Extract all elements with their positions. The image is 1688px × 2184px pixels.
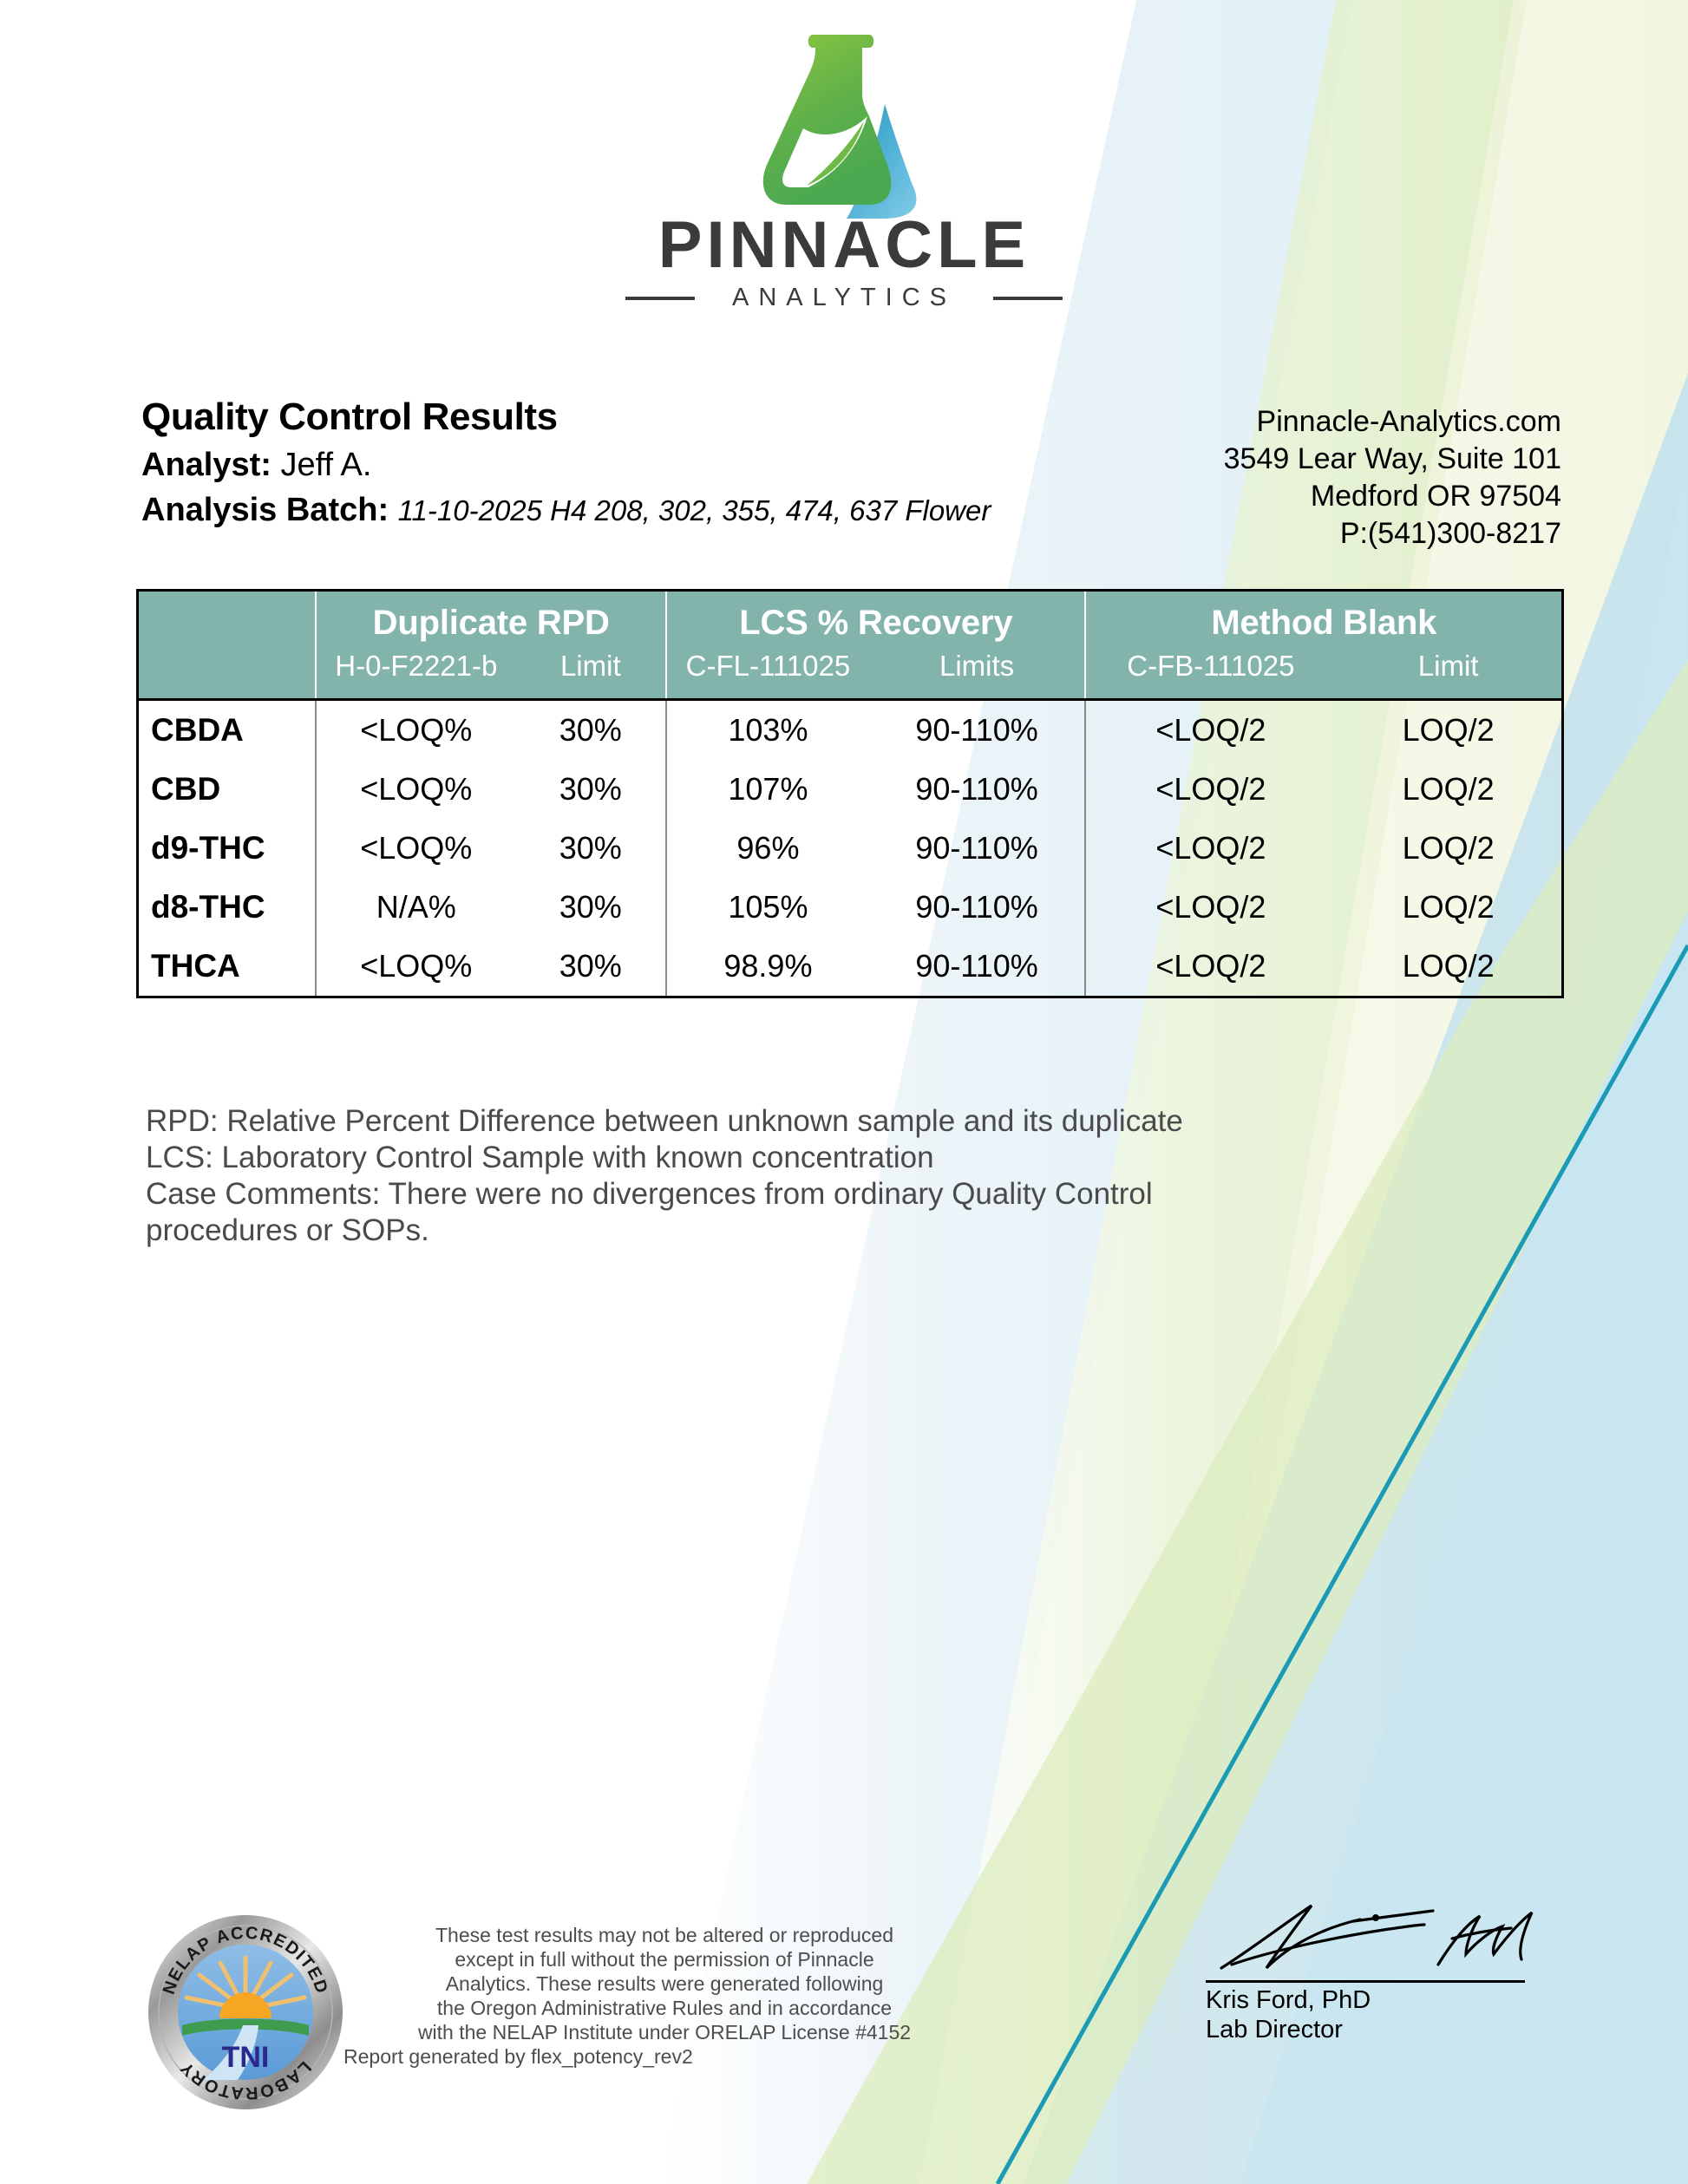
analyte-name: THCA [139, 937, 316, 996]
rpd-value: <LOQ% [316, 819, 515, 878]
seal-center-text: TNI [222, 2041, 270, 2074]
lcs-limits: 90-110% [869, 760, 1086, 819]
contact-website[interactable]: Pinnacle-Analytics.com [1224, 403, 1561, 441]
rpd-limit: 30% [515, 819, 666, 878]
rpd-limit: 30% [515, 878, 666, 937]
qc-table-sub-header-row: H-0-F2221-b Limit C-FL-111025 Limits C-F… [139, 646, 1561, 700]
report-header: Quality Control Results Analyst: Jeff A.… [0, 395, 1688, 568]
rpd-limit: 30% [515, 700, 666, 761]
analyst-row: Analyst: Jeff A. [141, 445, 1087, 485]
method-blank-limit: LOQ/2 [1335, 878, 1561, 937]
table-row: THCA<LOQ%30%98.9%90-110%<LOQ/2LOQ/2 [139, 937, 1561, 996]
analyte-name: d9-THC [139, 819, 316, 878]
lcs-value: 105% [666, 878, 869, 937]
analysis-batch-row: Analysis Batch: 11-10-2025 H4 208, 302, … [141, 490, 1087, 531]
analyst-label: Analyst: [141, 447, 272, 483]
contact-phone: P:(541)300-8217 [1224, 515, 1561, 553]
analyte-name: d8-THC [139, 878, 316, 937]
logo-wordmark: PINNACLE ANALYTICS [575, 213, 1113, 316]
lcs-value: 103% [666, 700, 869, 761]
decorative-background [0, 0, 1688, 2184]
note-case-comments-line1: Case Comments: There were no divergences… [146, 1176, 1551, 1213]
table-row: d8-THCN/A%30%105%90-110%<LOQ/2LOQ/2 [139, 878, 1561, 937]
signature-rule [1206, 1980, 1525, 1983]
qc-notes: RPD: Relative Percent Difference between… [146, 1103, 1551, 1249]
method-blank-limit: LOQ/2 [1335, 819, 1561, 878]
sub-header-rpd-sample: H-0-F2221-b [316, 646, 515, 700]
sub-header-lcs-limits: Limits [869, 646, 1086, 700]
method-blank: <LOQ/2 [1085, 760, 1335, 819]
rpd-limit: 30% [515, 760, 666, 819]
rpd-limit: 30% [515, 937, 666, 996]
signatory-role: Lab Director [1206, 2015, 1570, 2044]
contact-address-line1: 3549 Lear Way, Suite 101 [1224, 441, 1561, 478]
lcs-value: 107% [666, 760, 869, 819]
contact-address-line2: Medford OR 97504 [1224, 478, 1561, 515]
rpd-value: <LOQ% [316, 937, 515, 996]
group-header-lcs-recovery: LCS % Recovery [666, 592, 1085, 646]
note-case-comments-line2: procedures or SOPs. [146, 1213, 1551, 1249]
disclaimer-line-5: with the NELAP Institute under ORELAP Li… [343, 2020, 985, 2044]
rpd-value: <LOQ% [316, 700, 515, 761]
qc-table-head: Duplicate RPD LCS % Recovery Method Blan… [139, 592, 1561, 700]
method-blank-limit: LOQ/2 [1335, 760, 1561, 819]
lcs-value: 96% [666, 819, 869, 878]
group-header-blank [139, 592, 316, 646]
disclaimer-line-1: These test results may not be altered or… [343, 1923, 985, 1947]
nelap-accreditation-seal-icon: TNI NELAP ACCREDITED LABORATORY [146, 1913, 345, 2112]
method-blank: <LOQ/2 [1085, 700, 1335, 761]
lcs-limits: 90-110% [869, 878, 1086, 937]
method-blank: <LOQ/2 [1085, 937, 1335, 996]
sub-header-lcs-sample: C-FL-111025 [666, 646, 869, 700]
disclaimer-line-4: the Oregon Administrative Rules and in a… [343, 1996, 985, 2020]
company-logo: PINNACLE ANALYTICS [0, 19, 1688, 316]
analyte-name: CBD [139, 760, 316, 819]
lcs-value: 98.9% [666, 937, 869, 996]
table-row: CBDA<LOQ%30%103%90-110%<LOQ/2LOQ/2 [139, 700, 1561, 761]
report-header-left: Quality Control Results Analyst: Jeff A.… [141, 395, 1087, 531]
signature-names: Kris Ford, PhD Lab Director [1206, 1985, 1570, 2044]
report-footer: TNI NELAP ACCREDITED LABORATORY These te… [0, 1904, 1688, 2164]
lcs-limits: 90-110% [869, 700, 1086, 761]
contact-block: Pinnacle-Analytics.com 3549 Lear Way, Su… [1224, 403, 1561, 553]
rpd-value: <LOQ% [316, 760, 515, 819]
method-blank: <LOQ/2 [1085, 878, 1335, 937]
method-blank-limit: LOQ/2 [1335, 700, 1561, 761]
signature-block: Kris Ford, PhD Lab Director [1206, 1904, 1570, 2044]
analysis-batch-value: 11-10-2025 H4 208, 302, 355, 474, 637 Fl… [398, 494, 991, 526]
method-blank: <LOQ/2 [1085, 819, 1335, 878]
page-title: Quality Control Results [141, 395, 1087, 440]
svg-text:PINNACLE: PINNACLE [658, 213, 1030, 282]
sub-header-mb-sample: C-FB-111025 [1085, 646, 1335, 700]
note-lcs-definition: LCS: Laboratory Control Sample with know… [146, 1140, 1551, 1176]
qc-report-page: PINNACLE ANALYTICS Quality Control Resul… [0, 0, 1688, 2184]
disclaimer-line-3: Analytics. These results were generated … [343, 1971, 985, 1996]
sub-header-mb-limit: Limit [1335, 646, 1561, 700]
method-blank-limit: LOQ/2 [1335, 937, 1561, 996]
table-row: CBD<LOQ%30%107%90-110%<LOQ/2LOQ/2 [139, 760, 1561, 819]
qc-results-table: Duplicate RPD LCS % Recovery Method Blan… [136, 589, 1564, 998]
svg-text:ANALYTICS: ANALYTICS [732, 284, 956, 311]
table-row: d9-THC<LOQ%30%96%90-110%<LOQ/2LOQ/2 [139, 819, 1561, 878]
group-header-method-blank: Method Blank [1085, 592, 1561, 646]
group-header-duplicate-rpd: Duplicate RPD [316, 592, 666, 646]
sub-header-blank [139, 646, 316, 700]
signature-mark-icon [1206, 1904, 1553, 1980]
lcs-limits: 90-110% [869, 819, 1086, 878]
disclaimer-text: These test results may not be altered or… [343, 1923, 985, 2069]
qc-table-group-header-row: Duplicate RPD LCS % Recovery Method Blan… [139, 592, 1561, 646]
analyst-value: Jeff A. [280, 447, 371, 483]
note-rpd-definition: RPD: Relative Percent Difference between… [146, 1103, 1551, 1140]
analyte-name: CBDA [139, 700, 316, 761]
disclaimer-line-2: except in full without the permission of… [343, 1947, 985, 1971]
signatory-name: Kris Ford, PhD [1206, 1985, 1570, 2015]
rpd-value: N/A% [316, 878, 515, 937]
report-generator-note: Report generated by flex_potency_rev2 [343, 2044, 985, 2069]
analysis-batch-label: Analysis Batch: [141, 492, 389, 528]
qc-table-body: CBDA<LOQ%30%103%90-110%<LOQ/2LOQ/2CBD<LO… [139, 700, 1561, 997]
flask-logo-icon [753, 19, 935, 219]
lcs-limits: 90-110% [869, 937, 1086, 996]
sub-header-rpd-limit: Limit [515, 646, 666, 700]
